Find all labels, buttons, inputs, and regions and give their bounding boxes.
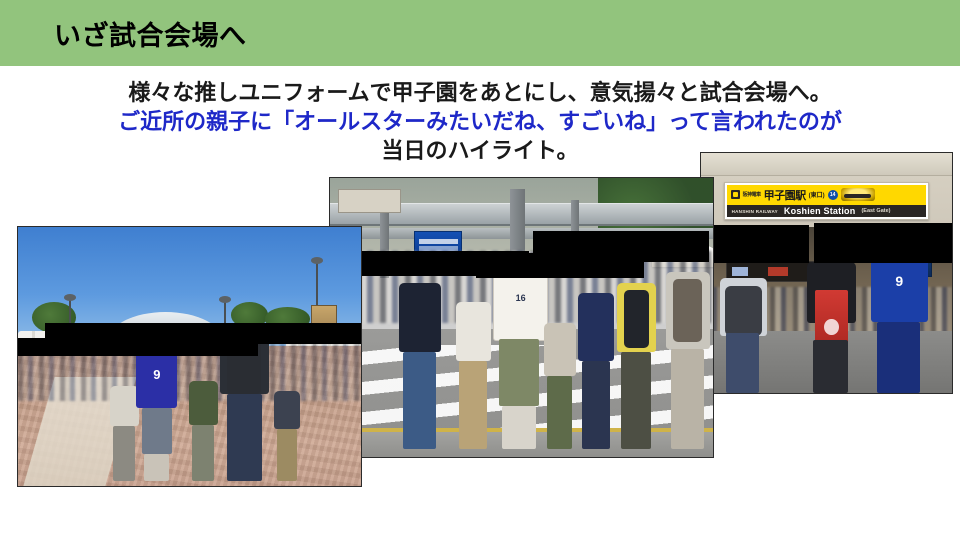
person-legs bbox=[582, 361, 610, 448]
jersey-number-text: 9 bbox=[871, 273, 928, 289]
backpack-icon bbox=[725, 286, 763, 336]
photo-left-content: 9 bbox=[18, 227, 361, 486]
station-person-backpack bbox=[716, 268, 771, 393]
person-legs bbox=[192, 425, 215, 481]
redaction-bar bbox=[814, 223, 952, 264]
header-band: いざ試合会場へ bbox=[0, 0, 960, 66]
redaction-bar bbox=[17, 338, 258, 356]
person-legs bbox=[726, 333, 759, 393]
redaction-bar bbox=[533, 231, 709, 262]
station-sign-gate-en: (East Gate) bbox=[861, 208, 890, 214]
hanshin-logo-icon bbox=[731, 190, 740, 199]
station-person-carp-tote bbox=[801, 254, 861, 393]
station-number-badge: 14 bbox=[828, 190, 838, 200]
tigers-emblem-icon bbox=[841, 188, 875, 201]
photo-mid-content: Swallows 16 bbox=[330, 178, 713, 457]
blue-jersey-torso: 9 bbox=[136, 349, 177, 408]
station-sign-gate-jp: (東口) bbox=[809, 190, 825, 199]
station-sign-company-en: HANSHIN RAILWAY bbox=[732, 209, 778, 214]
station-sign-yellow-row: 阪神電車 甲子園駅 (東口) 14 bbox=[727, 185, 927, 205]
person-legs bbox=[459, 361, 487, 448]
station-person-blue-jersey: MAKOTO 9 bbox=[867, 244, 932, 393]
person-torso bbox=[189, 381, 218, 425]
photo-plaza-walk: 9 bbox=[17, 226, 362, 487]
walker-green-shirt bbox=[186, 377, 220, 481]
backpack-icon bbox=[673, 279, 702, 342]
walker-blue-jersey: 9 bbox=[135, 346, 180, 481]
station-sign-station-jp: 甲子園駅 bbox=[764, 187, 806, 203]
person-legs bbox=[277, 429, 297, 481]
body-line-1: 様々な推しユニフォームで甲子園をあとにし、意気揚々と試合会場へ。 bbox=[0, 78, 960, 107]
person-legs bbox=[113, 426, 136, 481]
person-legs bbox=[227, 394, 262, 481]
person-shorts bbox=[499, 339, 539, 405]
station-sign-station-en: Koshien Station bbox=[784, 206, 856, 216]
station-canopy bbox=[701, 153, 952, 176]
photo-right-content: 阪神電車 甲子園駅 (東口) 14 HANSHIN RAILWAY Koshie… bbox=[701, 153, 952, 393]
pedestrian-yellow-shirt bbox=[613, 276, 659, 449]
person-legs bbox=[621, 352, 651, 449]
person-legs bbox=[813, 340, 848, 393]
backpack-icon bbox=[624, 290, 650, 349]
walker-khaki bbox=[272, 388, 303, 481]
photo-koshien-station: 阪神電車 甲子園駅 (東口) 14 HANSHIN RAILWAY Koshie… bbox=[700, 152, 953, 394]
redaction-bar bbox=[701, 225, 809, 263]
person-legs bbox=[502, 406, 535, 449]
person-torso bbox=[544, 323, 576, 377]
jersey-number-text: 16 bbox=[494, 293, 547, 303]
station-sign-company-jp: 阪神電車 bbox=[743, 191, 761, 198]
person-shorts bbox=[142, 408, 172, 454]
station-name-sign: 阪神電車 甲子園駅 (東口) 14 HANSHIN RAILWAY Koshie… bbox=[724, 182, 930, 220]
person-legs bbox=[547, 376, 572, 448]
person-legs bbox=[877, 322, 920, 393]
photo-crosswalk-crowd: Swallows 16 bbox=[329, 177, 714, 458]
page-title: いざ試合会場へ bbox=[54, 14, 247, 53]
station-sign-dark-row: HANSHIN RAILWAY Koshien Station (East Ga… bbox=[727, 205, 927, 217]
person-legs bbox=[671, 349, 704, 448]
person-torso bbox=[578, 293, 613, 361]
person-legs bbox=[403, 352, 436, 449]
person-torso bbox=[456, 302, 491, 361]
pedestrian-navy-jersey bbox=[575, 287, 617, 449]
jersey-number-text: 9 bbox=[136, 367, 177, 382]
person-torso bbox=[274, 391, 300, 428]
alps-shop-sign bbox=[338, 189, 401, 213]
body-line-2: ご近所の親子に「オールスターみたいだね、すごいね」って言われたのが bbox=[0, 107, 960, 136]
pedestrian-khaki-pants bbox=[453, 292, 495, 448]
slide-root: いざ試合会場へ 様々な推しユニフォームで甲子園をあとにし、意気揚々と試合会場へ。… bbox=[0, 0, 960, 540]
person-torso bbox=[399, 283, 441, 352]
pedestrian-navy-shirt bbox=[395, 276, 445, 449]
person-legs bbox=[144, 454, 169, 481]
pedestrian-grey-backpack bbox=[663, 265, 713, 449]
pedestrian-child bbox=[541, 315, 579, 449]
